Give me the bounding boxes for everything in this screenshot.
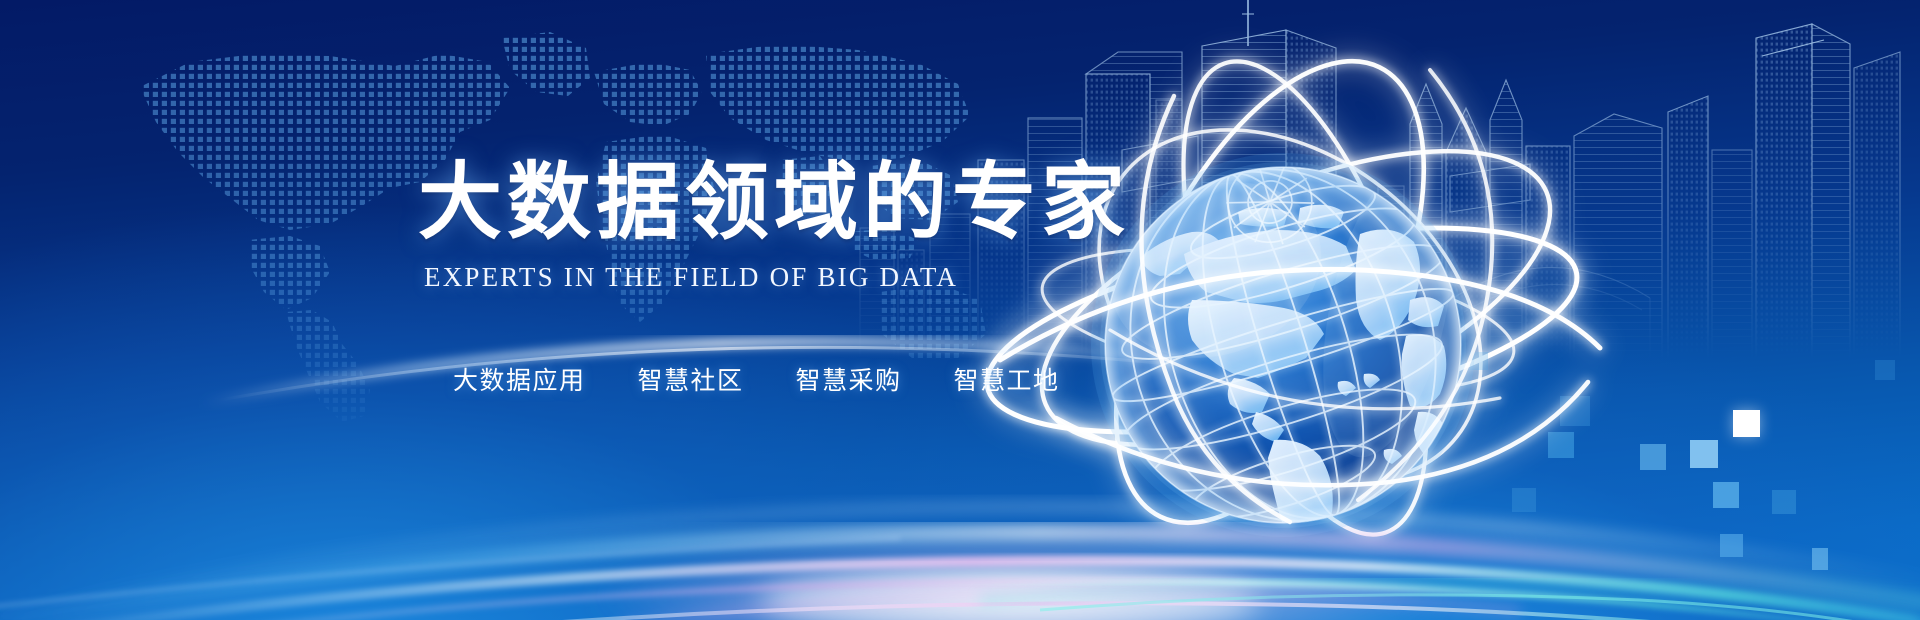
- decor-square: [1772, 490, 1796, 514]
- aurora-light-streaks: [0, 400, 1920, 620]
- decor-square: [1512, 488, 1536, 512]
- decor-square: [1690, 440, 1718, 468]
- decor-square: [1713, 482, 1739, 508]
- decor-square: [1640, 444, 1666, 470]
- decor-square: [1560, 396, 1590, 426]
- nav-item-big-data-application[interactable]: 大数据应用: [453, 361, 586, 397]
- decor-square: [1720, 534, 1743, 557]
- page-title: 大数据领域的专家: [418, 160, 1158, 246]
- nav-item-smart-procurement[interactable]: 智慧采购: [796, 361, 902, 397]
- decor-square-highlight: [1733, 410, 1760, 437]
- hero-banner: 大数据领域的专家 EXPERTS IN THE FIELD OF BIG DAT…: [0, 0, 1920, 620]
- nav-list: 大数据应用 智慧社区 智慧采购 智慧工地: [453, 361, 1158, 397]
- decor-square: [1812, 548, 1828, 570]
- banner-copy: 大数据领域的专家 EXPERTS IN THE FIELD OF BIG DAT…: [418, 160, 1158, 397]
- subtitle: EXPERTS IN THE FIELD OF BIG DATA: [424, 262, 1158, 293]
- nav-item-smart-construction[interactable]: 智慧工地: [954, 361, 1060, 397]
- nav-item-smart-community[interactable]: 智慧社区: [638, 361, 744, 397]
- decor-square: [1875, 360, 1895, 380]
- decor-square: [1548, 432, 1574, 458]
